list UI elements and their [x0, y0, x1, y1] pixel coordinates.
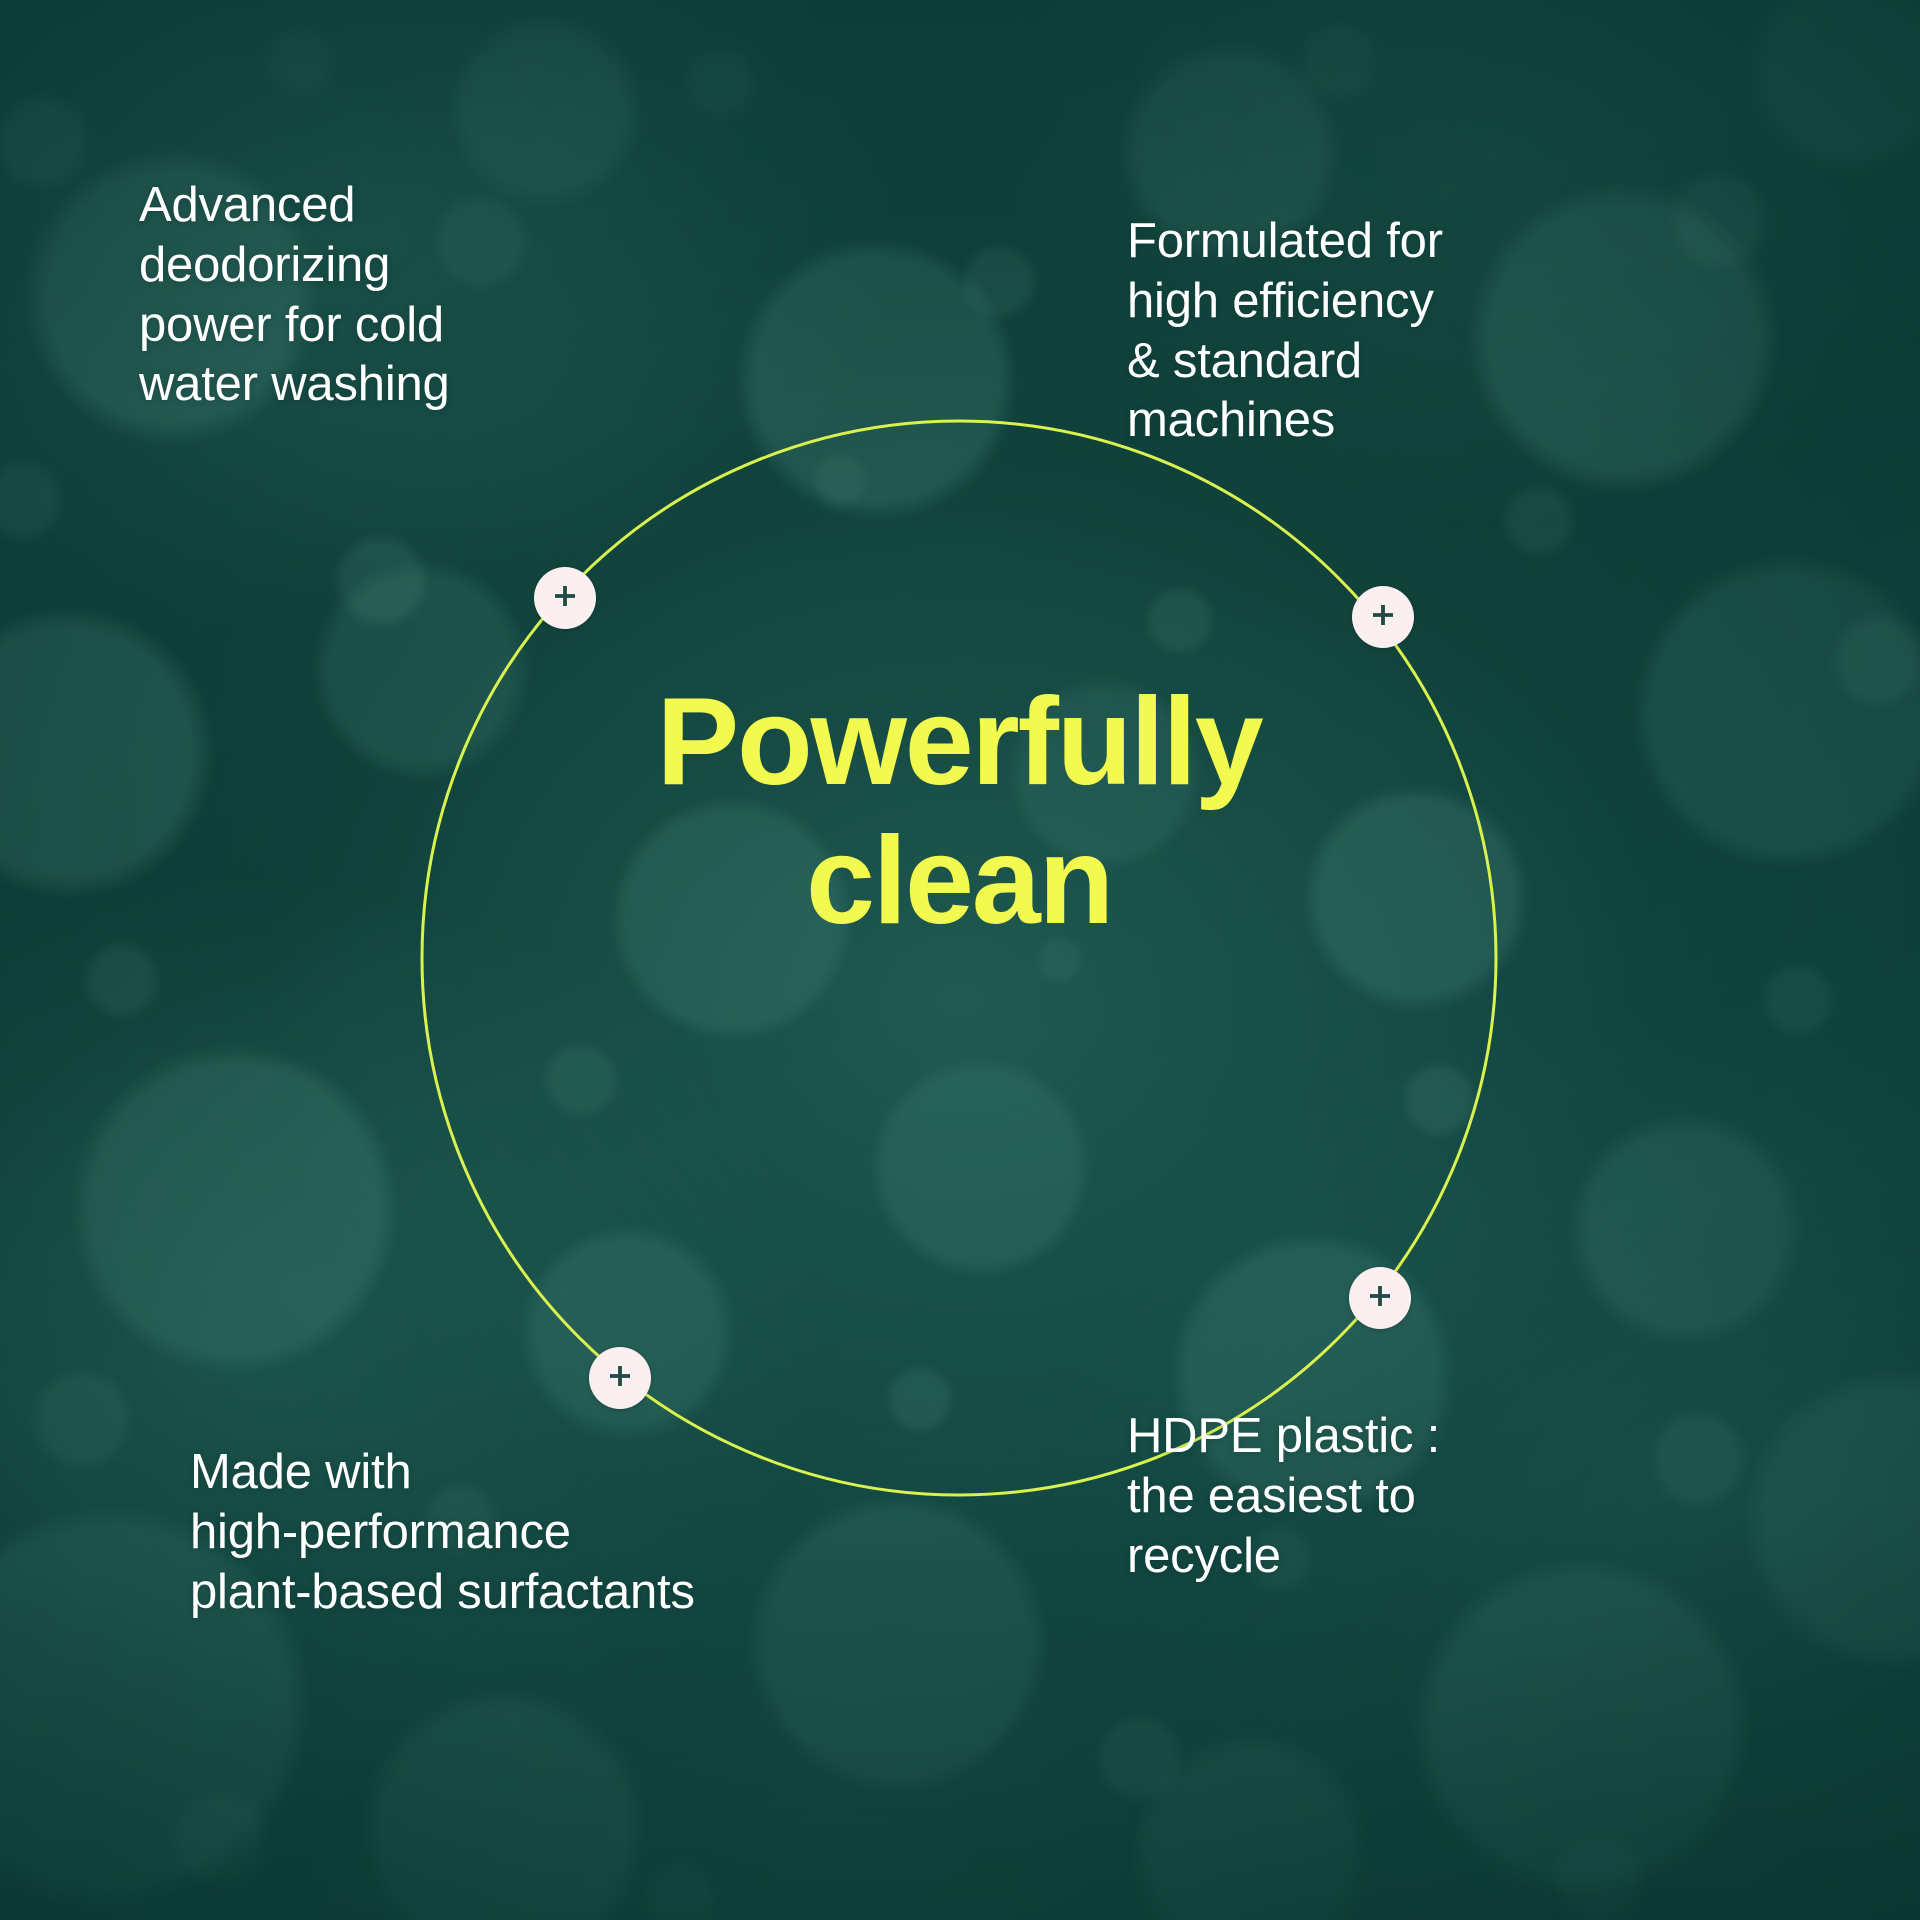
callout-text-surfactants: Made with high-performance plant-based s…	[190, 1443, 950, 1622]
plus-icon	[1365, 1283, 1395, 1313]
callout-text-machines: Formulated for high efficiency & standar…	[1127, 212, 1597, 451]
callout-text-hdpe: HDPE plastic : the easiest to recycle	[1127, 1407, 1557, 1586]
plus-icon	[605, 1363, 635, 1393]
callout-text-cold-water: Advanced deodorizing power for cold wate…	[139, 176, 659, 415]
headline: Powerfully clean	[459, 673, 1459, 951]
promo-graphic: Advanced deodorizing power for cold wate…	[0, 0, 1920, 1920]
plus-icon	[1368, 602, 1398, 632]
plus-marker-hdpe[interactable]	[1349, 1267, 1411, 1329]
plus-marker-machines[interactable]	[1352, 586, 1414, 648]
plus-icon	[550, 583, 580, 613]
plus-marker-surfactants[interactable]	[589, 1347, 651, 1409]
plus-marker-cold-water[interactable]	[534, 567, 596, 629]
